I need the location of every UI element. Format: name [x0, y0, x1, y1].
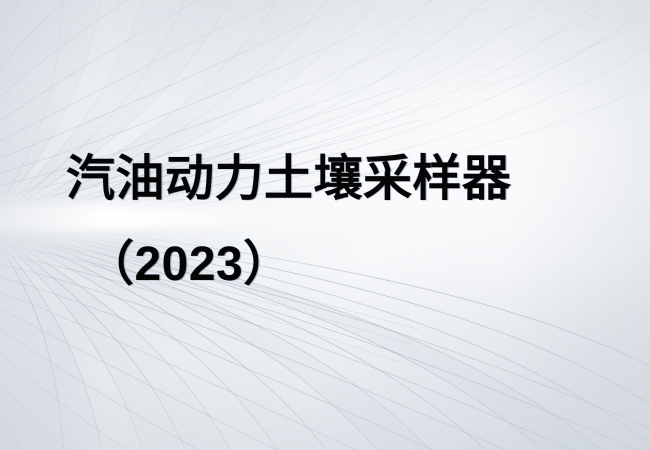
title-card-poster: 汽油动力土壤采样器 （2023） [0, 0, 650, 450]
background-edge-vignette [0, 0, 650, 450]
